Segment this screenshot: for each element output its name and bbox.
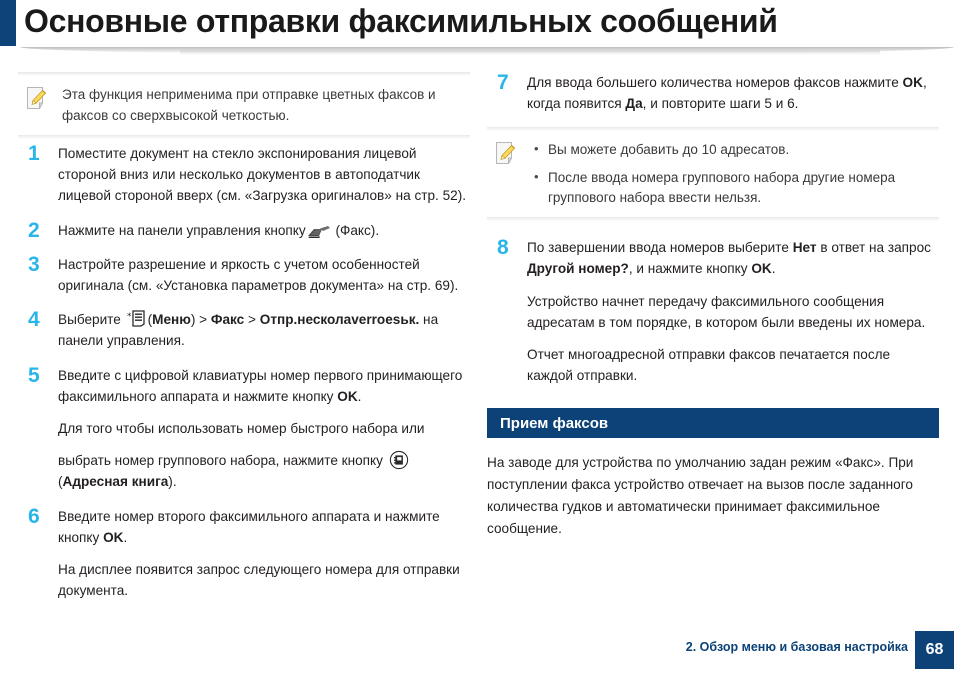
note-list-right: Вы можете добавить до 10 адресатов.После… (531, 140, 933, 208)
emphasis-text: OK (337, 389, 357, 404)
step-paragraph: Устройство начнет передачу факсимильного… (527, 291, 939, 333)
step-number: 3 (28, 252, 40, 278)
emphasis-text: Факс (211, 312, 244, 327)
note-box-left: Эта функция неприменима при отправке цве… (18, 72, 470, 139)
step-paragraph: Отчет многоадресной отправки факсов печа… (527, 344, 939, 386)
note-text-left: Эта функция неприменима при отправке цве… (62, 85, 464, 126)
step-paragraph: Введите номер второго факсимильного аппа… (58, 506, 470, 548)
step-text: Для ввода большего количества номеров фа… (527, 72, 939, 114)
step-text: Введите с цифровой клавиатуры номер перв… (58, 365, 470, 493)
section-heading-title: Прием факсов (500, 415, 608, 432)
step-item: 1Поместите документ на стекло экспониров… (18, 143, 470, 207)
fax-machine-icon (307, 224, 331, 239)
steps-right-top: 7Для ввода большего количества номеров ф… (487, 72, 939, 114)
steps-left: 1Поместите документ на стекло экспониров… (18, 143, 470, 601)
body-text: Введите с цифровой клавиатуры номер перв… (58, 368, 462, 404)
body-text: , и нажмите кнопку (629, 261, 751, 276)
header-accent-bar (0, 0, 16, 46)
step-item: 5Введите с цифровой клавиатуры номер пер… (18, 365, 470, 493)
emphasis-text: Меню (152, 312, 191, 327)
body-text: выбрать номер группового набора, нажмите… (58, 453, 387, 468)
note-box-right: Вы можете добавить до 10 адресатов.После… (487, 127, 939, 221)
step-paragraph: На дисплее появится запрос следующего но… (58, 559, 470, 601)
left-column: Эта функция неприменима при отправке цве… (18, 72, 470, 614)
step-number: 2 (28, 218, 40, 244)
section-body-text: На заводе для устройства по умолчанию за… (487, 452, 939, 540)
step-item: 6Введите номер второго факсимильного апп… (18, 506, 470, 602)
step-number: 1 (28, 141, 40, 167)
step-text: Нажмите на панели управления кнопку (Фак… (58, 220, 470, 241)
step-text: Настройте разрешение и яркость с учетом … (58, 254, 470, 296)
body-text: в ответ на запрос (817, 240, 931, 255)
step-paragraph: выбрать номер группового набора, нажмите… (58, 450, 470, 492)
note-paragraph: Эта функция неприменима при отправке цве… (62, 85, 464, 126)
footer-chapter-label: 2. Обзор меню и базовая настройка (686, 640, 908, 654)
step-paragraph: Настройте разрешение и яркость с учетом … (58, 254, 470, 296)
body-text: . (358, 389, 362, 404)
body-text: Отчет многоадресной отправки факсов печа… (527, 347, 890, 383)
emphasis-text: Адресная книга (63, 474, 169, 489)
note-list-item: После ввода номера группового набора дру… (531, 168, 933, 209)
step-item: 3Настройте разрешение и яркость с учетом… (18, 254, 470, 296)
body-text: . (123, 530, 127, 545)
step-paragraph: Выберите *(Меню) > Факс > Отпр.несколave… (58, 309, 470, 351)
body-text: Для ввода большего количества номеров фа… (527, 75, 903, 90)
page-title: Основные отправки факсимильных сообщений (24, 0, 778, 44)
steps-right-bottom: 8По завершении ввода номеров выберите Не… (487, 237, 939, 386)
step-paragraph: Нажмите на панели управления кнопку (Фак… (58, 220, 470, 241)
body-text: Поместите документ на стекло экспонирова… (58, 146, 466, 203)
body-text: ) > (191, 312, 211, 327)
body-text: (Факс). (332, 223, 379, 238)
step-text: Поместите документ на стекло экспонирова… (58, 143, 470, 207)
emphasis-text: Отпр.несколaverroesьк. (260, 312, 420, 327)
step-item: 8По завершении ввода номеров выберите Не… (487, 237, 939, 386)
step-number: 6 (28, 504, 40, 530)
body-text: Нажмите на панели управления кнопку (58, 223, 306, 238)
body-text: Для того чтобы использовать номер быстро… (58, 421, 424, 436)
step-paragraph: Для того чтобы использовать номер быстро… (58, 418, 470, 439)
emphasis-text: Да (625, 96, 642, 111)
section-heading-bar: Прием факсов (487, 408, 939, 438)
step-paragraph: Введите с цифровой клавиатуры номер перв… (58, 365, 470, 407)
document-page: Основные отправки факсимильных сообщений… (0, 0, 954, 675)
body-text: ). (168, 474, 176, 489)
body-text: , и повторите шаги 5 и 6. (643, 96, 799, 111)
right-column: 7Для ввода большего количества номеров ф… (487, 72, 939, 540)
body-text: На дисплее появится запрос следующего но… (58, 562, 460, 598)
body-text: Выберите (58, 312, 125, 327)
step-number: 4 (28, 307, 40, 333)
note-pencil-icon (26, 86, 48, 110)
step-item: 2Нажмите на панели управления кнопку (Фа… (18, 220, 470, 241)
step-item: 7Для ввода большего количества номеров ф… (487, 72, 939, 114)
step-item: 4Выберите *(Меню) > Факс > Отпр.несколav… (18, 309, 470, 351)
step-text: По завершении ввода номеров выберите Нет… (527, 237, 939, 386)
step-text: Выберите *(Меню) > Факс > Отпр.несколave… (58, 309, 470, 351)
emphasis-text: OK (103, 530, 123, 545)
body-text: Устройство начнет передачу факсимильного… (527, 294, 925, 330)
svg-text:*: * (127, 312, 132, 322)
step-number: 7 (497, 70, 509, 96)
note-list-item: Вы можете добавить до 10 адресатов. (531, 140, 933, 160)
step-paragraph: По завершении ввода номеров выберите Нет… (527, 237, 939, 279)
body-text: Настройте разрешение и яркость с учетом … (58, 257, 458, 293)
step-paragraph: Поместите документ на стекло экспонирова… (58, 143, 470, 207)
page-footer: 2. Обзор меню и базовая настройка 68 (454, 629, 954, 675)
address-book-icon (389, 450, 409, 470)
step-number: 5 (28, 363, 40, 389)
menu-list-icon: * (127, 310, 146, 327)
note-pencil-icon (495, 141, 517, 165)
body-text: . (772, 261, 776, 276)
page-header: Основные отправки факсимильных сообщений (0, 0, 954, 46)
emphasis-text: Нет (793, 240, 817, 255)
emphasis-text: Другой номер? (527, 261, 629, 276)
step-paragraph: Для ввода большего количества номеров фа… (527, 72, 939, 114)
emphasis-text: OK (903, 75, 923, 90)
step-text: Введите номер второго факсимильного аппа… (58, 506, 470, 602)
header-divider-secondary (180, 50, 880, 55)
body-text: > (244, 312, 260, 327)
emphasis-text: OK (751, 261, 771, 276)
body-text: По завершении ввода номеров выберите (527, 240, 793, 255)
step-number: 8 (497, 235, 509, 261)
footer-page-number: 68 (915, 631, 954, 669)
